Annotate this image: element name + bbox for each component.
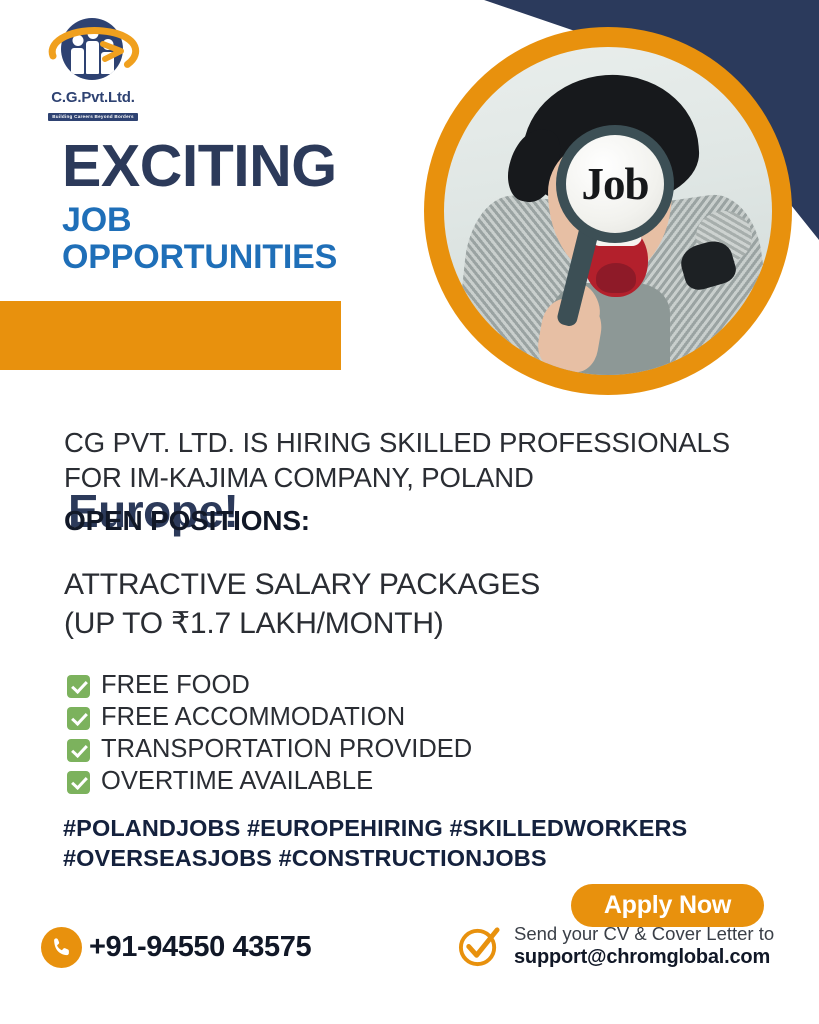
hashtags-line-2: #OVERSEASJOBS #CONSTRUCTIONJOBS <box>63 845 547 871</box>
magnifier-icon: Job <box>556 125 674 243</box>
hero-photo: Job <box>444 47 772 375</box>
check-icon <box>67 675 90 698</box>
check-icon <box>67 707 90 730</box>
magnifier-lens: Job <box>566 135 664 233</box>
intro-line-2: FOR IM-KAJIMA COMPANY, POLAND <box>64 462 534 493</box>
benefit-label: TRANSPORTATION PROVIDED <box>101 737 472 763</box>
hashtags-block: #POLANDJOBS #EUROPEHIRING #SKILLEDWORKER… <box>63 813 783 873</box>
salary-line-1: ATTRACTIVE SALARY PACKAGES <box>64 568 540 601</box>
europe-banner <box>0 301 341 370</box>
list-item: OVERTIME AVAILABLE <box>67 767 687 797</box>
check-icon <box>67 771 90 794</box>
headline-job: JOB <box>62 202 462 239</box>
list-item: TRANSPORTATION PROVIDED <box>67 735 687 765</box>
benefits-list: FREE FOOD FREE ACCOMMODATION TRANSPORTAT… <box>67 671 687 799</box>
salary-line-2: (UP TO ₹1.7 LAKH/MONTH) <box>64 607 444 640</box>
logo-swoosh-arrow-icon <box>45 26 141 84</box>
intro-line-1: CG PVT. LTD. IS HIRING SKILLED PROFESSIO… <box>64 427 730 458</box>
benefit-label: FREE ACCOMMODATION <box>101 705 405 731</box>
salary-text: ATTRACTIVE SALARY PACKAGES (UP TO ₹1.7 L… <box>64 565 764 643</box>
tongue <box>596 263 636 293</box>
email-address: support@chromglobal.com <box>514 945 774 969</box>
intro-text: CG PVT. LTD. IS HIRING SKILLED PROFESSIO… <box>64 426 764 496</box>
magnifier-word: Job <box>581 162 648 207</box>
open-positions-heading: OPEN POSITIONS: <box>64 505 310 537</box>
headline-block: EXCITING JOB OPPORTUNITIES <box>62 136 462 276</box>
logo-mark-icon <box>45 16 141 88</box>
hashtags-line-1: #POLANDJOBS #EUROPEHIRING #SKILLEDWORKER… <box>63 815 687 841</box>
email-contact[interactable]: Send your CV & Cover Letter to support@c… <box>457 923 774 969</box>
email-text-block: Send your CV & Cover Letter to support@c… <box>514 923 774 969</box>
cv-prompt: Send your CV & Cover Letter to <box>514 923 774 945</box>
logo-tagline: Building Careers Beyond Borders <box>48 113 138 121</box>
check-circle-icon <box>457 924 502 969</box>
benefit-label: FREE FOOD <box>101 673 250 699</box>
apply-now-button[interactable]: Apply Now <box>571 884 764 927</box>
list-item: FREE FOOD <box>67 671 687 701</box>
headline-exciting: EXCITING <box>62 136 462 196</box>
company-logo: C.G.Pvt.Ltd. Building Careers Beyond Bor… <box>33 16 153 123</box>
phone-icon <box>41 927 82 968</box>
headline-opportunities: OPPORTUNITIES <box>62 239 462 276</box>
hero-photo-ring: Job <box>424 27 792 395</box>
phone-contact[interactable]: +91-94550 43575 <box>41 927 311 968</box>
phone-number: +91-94550 43575 <box>89 933 311 962</box>
list-item: FREE ACCOMMODATION <box>67 703 687 733</box>
benefit-label: OVERTIME AVAILABLE <box>101 769 373 795</box>
logo-company-name: C.G.Pvt.Ltd. <box>33 90 153 105</box>
job-opportunity-poster: Job C.G.Pvt.Ltd. Building Careers Beyond… <box>0 0 819 1024</box>
check-icon <box>67 739 90 762</box>
